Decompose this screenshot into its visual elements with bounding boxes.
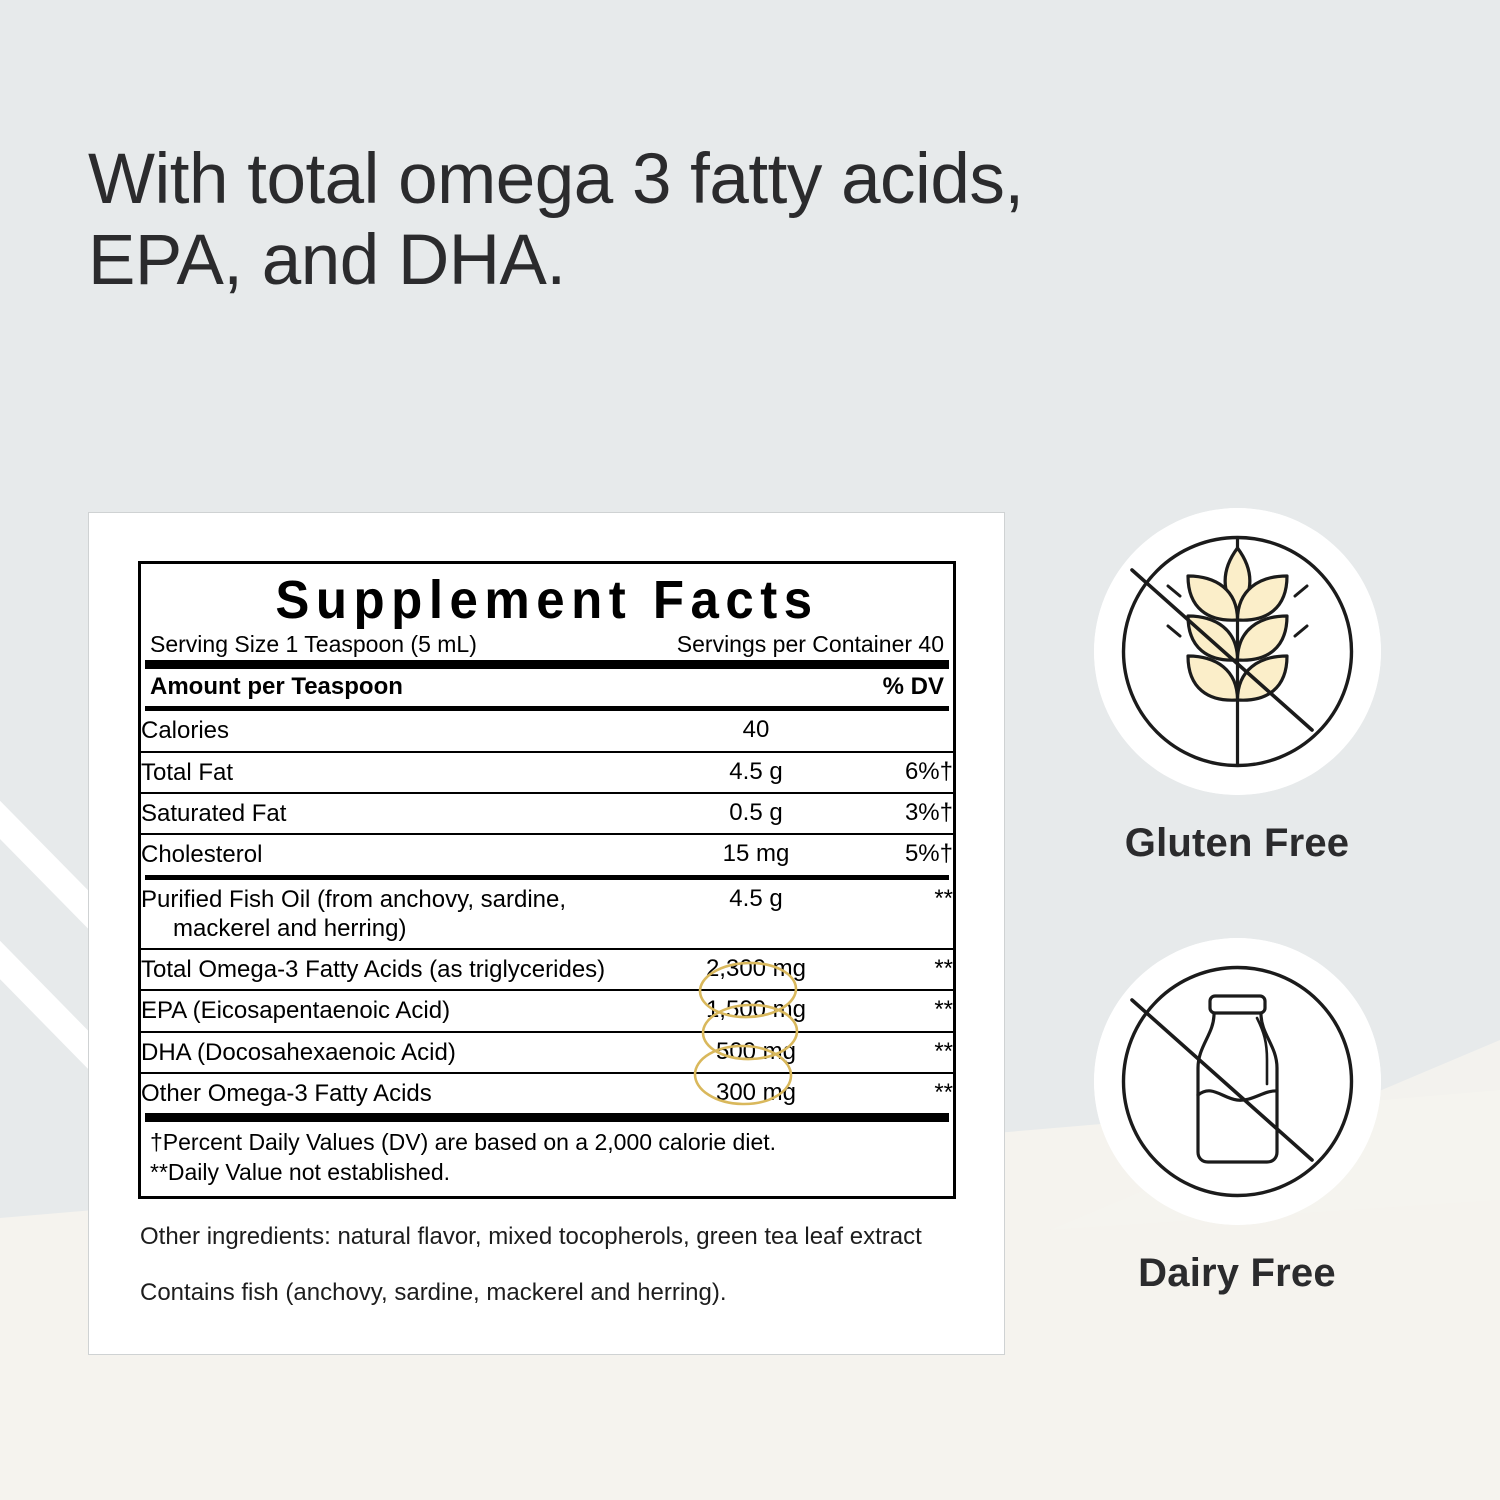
badge-dairy-free-label: Dairy Free <box>1072 1251 1402 1296</box>
table-row: DHA (Docosahexaenoic Acid) 500 mg ** <box>141 1032 953 1073</box>
page-title: With total omega 3 fatty acids, EPA, and… <box>88 140 1238 302</box>
headline-line-2: EPA, and DHA. <box>88 221 1238 302</box>
dv-header-label: % DV <box>883 673 944 701</box>
no-wheat-icon <box>1094 508 1381 795</box>
row-name: Purified Fish Oil (from anchovy, sardine… <box>141 880 667 950</box>
row-name: DHA (Docosahexaenoic Acid) <box>141 1032 667 1073</box>
servings-per-container: Servings per Container 40 <box>677 631 944 657</box>
rule-thick-bottom <box>145 1113 949 1122</box>
other-ingredients: Other ingredients: natural flavor, mixed… <box>138 1199 956 1252</box>
nutrition-table-lower: Purified Fish Oil (from anchovy, sardine… <box>141 880 953 1114</box>
supplement-facts-inner: Supplement Facts Serving Size 1 Teaspoon… <box>138 561 956 1308</box>
row-amount: 4.5 g <box>667 880 845 950</box>
table-row: Total Fat 4.5 g 6%† <box>141 752 953 793</box>
serving-size: Serving Size 1 Teaspoon (5 mL) <box>150 631 477 657</box>
row-amount: 2,300 mg <box>667 949 845 990</box>
row-amount: 0.5 g <box>667 793 845 834</box>
row-name: Cholesterol <box>141 834 667 874</box>
row-dv: ** <box>845 1032 953 1073</box>
footnote-dagger: †Percent Daily Values (DV) are based on … <box>150 1128 944 1157</box>
badge-gluten-free-label: Gluten Free <box>1072 821 1402 866</box>
nutrition-table-lower-body: Purified Fish Oil (from anchovy, sardine… <box>141 880 953 1114</box>
badge-dairy-free: Dairy Free <box>1072 938 1402 1296</box>
supplement-facts-title: Supplement Facts <box>141 564 953 631</box>
row-dv: ** <box>845 990 953 1031</box>
table-row: Total Omega-3 Fatty Acids (as triglyceri… <box>141 949 953 990</box>
headline-line-1: With total omega 3 fatty acids, <box>88 140 1238 221</box>
serving-info-row: Serving Size 1 Teaspoon (5 mL) Servings … <box>141 627 953 660</box>
rule-thick-top <box>145 660 949 669</box>
row-dv <box>845 711 953 751</box>
footnotes: †Percent Daily Values (DV) are based on … <box>141 1122 953 1196</box>
row-dv: 3%† <box>845 793 953 834</box>
row-name: Other Omega-3 Fatty Acids <box>141 1073 667 1113</box>
row-amount: 1,500 mg <box>667 990 845 1031</box>
row-name: Calories <box>141 711 667 751</box>
row-name: Total Omega-3 Fatty Acids (as triglyceri… <box>141 949 667 990</box>
row-amount: 500 mg <box>667 1032 845 1073</box>
badge-disc-bg <box>1094 938 1381 1225</box>
row-dv: ** <box>845 949 953 990</box>
badge-gluten-free: Gluten Free <box>1072 508 1402 866</box>
table-row: Purified Fish Oil (from anchovy, sardine… <box>141 880 953 950</box>
nutrition-table-upper-body: Calories 40 Total Fat 4.5 g 6%† Saturate… <box>141 711 953 874</box>
row-name: Saturated Fat <box>141 793 667 834</box>
no-milk-bottle-icon <box>1094 938 1381 1225</box>
row-amount: 300 mg <box>667 1073 845 1113</box>
table-row: Other Omega-3 Fatty Acids 300 mg ** <box>141 1073 953 1113</box>
table-row: EPA (Eicosapentaenoic Acid) 1,500 mg ** <box>141 990 953 1031</box>
row-name: Total Fat <box>141 752 667 793</box>
row-dv: ** <box>845 1073 953 1113</box>
row-amount: 4.5 g <box>667 752 845 793</box>
row-dv: 6%† <box>845 752 953 793</box>
amount-header-row: Amount per Teaspoon % DV <box>141 669 953 706</box>
row-name-line1: Purified Fish Oil (from anchovy, sardine… <box>141 886 566 913</box>
row-name: EPA (Eicosapentaenoic Acid) <box>141 990 667 1031</box>
row-amount: 40 <box>667 711 845 751</box>
row-name-line2: mackerel and herring) <box>141 914 406 943</box>
table-row: Cholesterol 15 mg 5%† <box>141 834 953 874</box>
row-amount: 15 mg <box>667 834 845 874</box>
table-row: Saturated Fat 0.5 g 3%† <box>141 793 953 834</box>
contains-statement: Contains fish (anchovy, sardine, mackere… <box>138 1252 956 1308</box>
table-row: Calories 40 <box>141 711 953 751</box>
row-dv: 5%† <box>845 834 953 874</box>
supplement-facts-card: Supplement Facts Serving Size 1 Teaspoon… <box>88 512 1005 1355</box>
footnote-asterisk: **Daily Value not established. <box>150 1158 944 1187</box>
row-dv: ** <box>845 880 953 950</box>
supplement-facts-panel: Supplement Facts Serving Size 1 Teaspoon… <box>138 561 956 1199</box>
amount-per-serving-label: Amount per Teaspoon <box>150 673 403 701</box>
nutrition-table-upper: Calories 40 Total Fat 4.5 g 6%† Saturate… <box>141 711 953 874</box>
